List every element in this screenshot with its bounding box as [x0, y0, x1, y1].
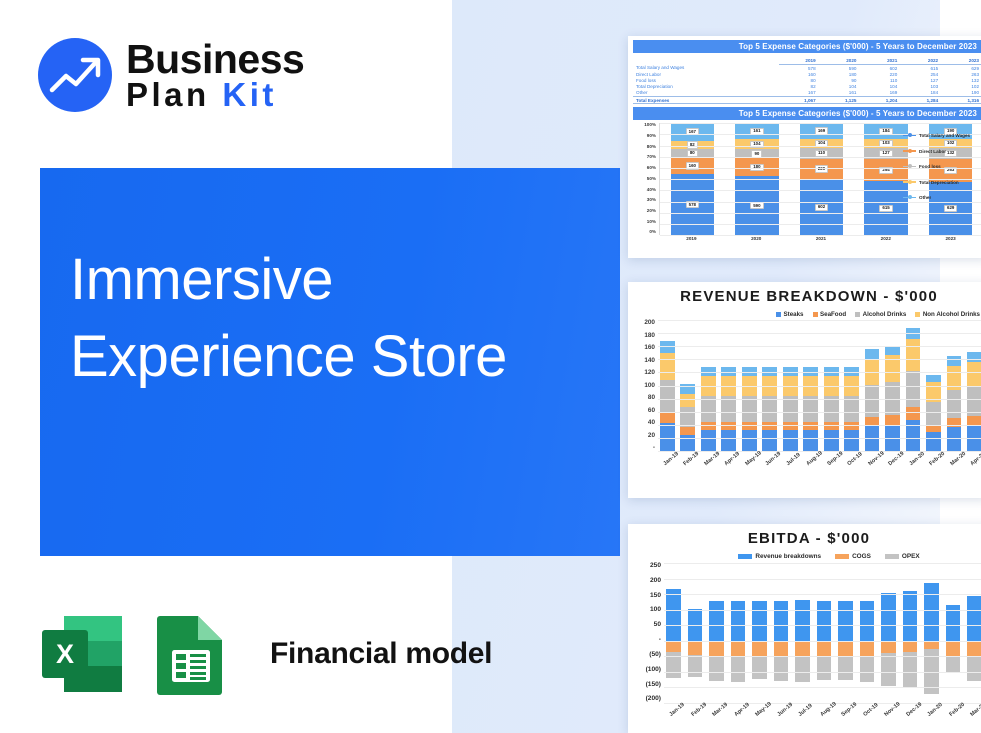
brand-word-plan: Plan — [126, 76, 210, 113]
revenue-chart-y-axis: 20018016014012010080604020- — [634, 320, 658, 452]
ebitda-chart-bars — [664, 563, 981, 703]
expense-cell: 578 — [779, 65, 820, 72]
legend-label: Food loss — [919, 164, 941, 169]
legend-item: Steaks — [776, 311, 803, 318]
bar-segment — [926, 432, 941, 451]
gridline — [660, 213, 981, 214]
financial-model-label: Financial model — [270, 637, 492, 671]
legend-label: Direct Labor — [919, 149, 946, 154]
bar-segment — [742, 396, 757, 422]
expense-chart-legend: Total Salary and WagesDirect LaborFood l… — [903, 133, 981, 200]
bar-segment: 103 — [864, 139, 908, 148]
x-tick: Feb-19 — [683, 453, 698, 467]
x-tick: May-19 — [744, 453, 759, 467]
bar-segment — [803, 396, 818, 422]
expense-chart-x-axis: 20192020202120222023 — [659, 236, 981, 241]
bar-value-label: 104 — [750, 141, 763, 148]
growth-arrow-icon — [38, 38, 112, 112]
ebitda-chart-title: EBITDA - $'000 — [634, 530, 981, 547]
diverging-bar — [860, 563, 875, 703]
bar-segment — [947, 390, 962, 418]
expense-cell: 167 — [779, 90, 820, 97]
expense-cell: 590 — [820, 65, 861, 72]
expense-cell: 161 — [820, 90, 861, 97]
bar-segment: 161 — [735, 123, 779, 139]
gridline — [658, 412, 981, 413]
legend-label: COGS — [852, 553, 871, 560]
expense-cell: 1,284 — [901, 96, 942, 103]
gridline — [658, 438, 981, 439]
bar-segment-revenue — [795, 600, 810, 640]
gridline — [658, 386, 981, 387]
x-tick: Jan-19 — [662, 453, 677, 467]
bar-segment-cogs — [946, 641, 961, 656]
x-tick: 2021 — [799, 236, 843, 241]
gridline — [658, 346, 981, 347]
table-row: Total Salary and Wages578590602615629 — [633, 65, 981, 72]
gridline — [660, 202, 981, 203]
bar-segment — [721, 396, 736, 422]
ebitda-card: EBITDA - $'000 Revenue breakdownsCOGSOPE… — [628, 524, 981, 733]
bar-segment-revenue — [731, 601, 746, 641]
expense-cell: 1,204 — [860, 96, 901, 103]
bar-segment — [844, 422, 859, 430]
bar-segment-cogs — [688, 641, 703, 655]
gridline — [664, 656, 981, 657]
stacked-bar — [865, 349, 880, 451]
ebitda-chart-legend: Revenue breakdownsCOGSOPEX — [634, 553, 981, 560]
bar-segment: 220 — [800, 159, 844, 179]
bar-value-label: 220 — [815, 165, 828, 172]
legend-swatch-icon — [835, 554, 849, 559]
x-tick: Jan-19 — [668, 704, 683, 718]
gridline — [664, 594, 981, 595]
y-tick: 200 — [644, 320, 655, 326]
legend-label: Alcohol Drinks — [863, 311, 907, 318]
file-format-row: X Financial model — [38, 610, 492, 698]
stacked-bar — [680, 384, 695, 451]
bar-segment-opex — [967, 656, 981, 680]
y-tick: 100 — [644, 383, 655, 389]
bar-segment — [680, 427, 695, 435]
bar-segment — [783, 422, 798, 430]
y-tick: 80% — [647, 145, 656, 150]
legend-item: Revenue breakdowns — [738, 553, 821, 560]
bar-segment — [844, 396, 859, 422]
y-tick: 60% — [647, 166, 656, 171]
y-tick: 10% — [647, 220, 656, 225]
expense-chart-y-axis: 100%90%80%70%60%50%40%30%20%10%0% — [633, 123, 659, 235]
expense-cell: 615 — [901, 65, 942, 72]
bar-segment — [742, 430, 757, 451]
stacked-bar — [947, 356, 962, 451]
legend-item: OPEX — [885, 553, 920, 560]
bar-segment-revenue — [924, 583, 939, 641]
bar-segment — [906, 339, 921, 370]
revenue-chart-legend: SteaksSeaFoodAlcohol DrinksNon Alcohol D… — [634, 311, 981, 318]
gridline — [664, 579, 981, 580]
revenue-chart-plot — [658, 320, 981, 452]
y-tick: 100 — [650, 607, 661, 614]
diverging-bar — [774, 563, 789, 703]
expense-chart-title: Top 5 Expense Categories ($'000) - 5 Yea… — [633, 107, 981, 120]
x-tick: Dec-19 — [888, 453, 903, 467]
diverging-bar — [924, 563, 939, 703]
legend-swatch-icon — [776, 312, 781, 317]
y-tick: 150 — [650, 593, 661, 600]
bar-segment — [844, 430, 859, 451]
bar-segment-cogs — [774, 641, 789, 657]
bar-segment-cogs — [817, 641, 832, 657]
gridline — [658, 359, 981, 360]
bar-segment — [824, 422, 839, 430]
legend-label: Other — [919, 195, 931, 200]
bar-segment — [803, 430, 818, 451]
x-tick: Mar-19 — [711, 704, 726, 718]
bar-segment-opex — [838, 656, 853, 680]
legend-item: Food loss — [903, 164, 981, 169]
gridline — [658, 333, 981, 334]
page-title: Immersive Experience Store — [70, 242, 590, 395]
bar-segment-cogs — [752, 641, 767, 657]
bar-segment-cogs — [881, 641, 896, 653]
bar-segment — [926, 375, 941, 382]
gridline — [658, 372, 981, 373]
y-tick: 200 — [650, 578, 661, 585]
x-tick: Sep-19 — [826, 453, 841, 467]
bar-segment — [824, 430, 839, 451]
x-tick: 2020 — [734, 236, 778, 241]
bar-segment — [783, 367, 798, 376]
legend-swatch-icon — [885, 554, 899, 559]
x-tick: Mar-20 — [970, 704, 981, 718]
bar-segment: 254 — [864, 159, 908, 181]
revenue-chart-title: REVENUE BREAKDOWN - $'000 — [634, 288, 981, 305]
expense-cell: 190 — [942, 90, 981, 97]
expense-categories-card: Top 5 Expense Categories ($'000) - 5 Yea… — [628, 36, 981, 258]
bar-value-label: 590 — [750, 202, 763, 209]
bar-segment — [783, 396, 798, 422]
diverging-bar — [752, 563, 767, 703]
expense-row-label: Total Salary and Wages — [633, 65, 779, 72]
stacked-bar — [660, 341, 675, 451]
legend-label: Revenue breakdowns — [755, 553, 821, 560]
gridline — [664, 563, 981, 564]
brand-wordmark: Business Plan Kit — [126, 40, 304, 110]
bar-segment-cogs — [666, 641, 681, 652]
expense-cell: 1,125 — [820, 96, 861, 103]
bar-value-label: 602 — [815, 204, 828, 211]
x-tick: 2022 — [864, 236, 908, 241]
legend-marker-icon — [903, 150, 916, 151]
gridline — [660, 123, 981, 124]
bar-segment-cogs — [709, 641, 724, 657]
diverging-bar — [903, 563, 918, 703]
y-tick: (150) — [646, 682, 661, 689]
bar-segment: 590 — [735, 176, 779, 235]
y-tick: 70% — [647, 155, 656, 160]
legend-swatch-icon — [855, 312, 860, 317]
x-tick: May-19 — [755, 704, 770, 718]
x-tick: Feb-20 — [929, 453, 944, 467]
legend-item: COGS — [835, 553, 871, 560]
expense-table: 20192020202120222023 Total Salary and Wa… — [633, 58, 981, 104]
bar-segment-opex — [903, 652, 918, 687]
diverging-bar — [709, 563, 724, 703]
x-tick: Apr-20 — [969, 453, 981, 467]
bar-segment-cogs — [903, 641, 918, 653]
x-tick: Feb-19 — [690, 704, 705, 718]
y-tick: 180 — [644, 333, 655, 339]
bar-segment — [967, 352, 981, 362]
bar-segment-revenue — [860, 601, 875, 641]
x-tick: 2023 — [929, 236, 973, 241]
bar-segment-revenue — [838, 601, 853, 641]
y-tick: 250 — [650, 563, 661, 570]
gridline — [658, 399, 981, 400]
bar-segment: 104 — [800, 139, 844, 149]
gridline — [658, 425, 981, 426]
svg-text:X: X — [56, 639, 74, 669]
bar-segment-cogs — [731, 641, 746, 657]
diverging-bar — [666, 563, 681, 703]
x-tick: Jun-19 — [776, 704, 791, 718]
bar-segment-revenue — [817, 601, 832, 641]
y-tick: 140 — [644, 358, 655, 364]
diverging-bar — [838, 563, 853, 703]
diverging-bar — [881, 563, 896, 703]
gridline — [658, 320, 981, 321]
bar-segment: 160 — [671, 158, 715, 175]
y-tick: 40% — [647, 188, 656, 193]
y-tick: 90% — [647, 134, 656, 139]
bar-segment-opex — [774, 656, 789, 681]
gridline — [664, 610, 981, 611]
bar-segment — [865, 349, 880, 359]
diverging-bar — [967, 563, 981, 703]
table-row: Total Expenses1,0671,1251,2041,2841,316 — [633, 96, 981, 103]
legend-marker-icon — [903, 197, 916, 198]
bar-segment-opex — [731, 656, 746, 682]
bar-segment-revenue — [752, 601, 767, 641]
y-tick: (100) — [646, 667, 661, 674]
y-tick: 0% — [649, 230, 656, 235]
excel-icon: X — [38, 610, 130, 698]
bar-segment — [906, 371, 921, 407]
legend-item: Other — [903, 195, 981, 200]
bar-segment-revenue — [774, 601, 789, 641]
bar-segment: 169 — [800, 123, 844, 139]
gridline — [664, 687, 981, 688]
x-tick: Jun-19 — [765, 453, 780, 467]
diverging-bar — [688, 563, 703, 703]
x-tick: Jan-20 — [927, 704, 942, 718]
bar-segment-revenue — [666, 589, 681, 641]
bar-segment — [680, 407, 695, 427]
revenue-breakdown-card: REVENUE BREAKDOWN - $'000 SteaksSeaFoodA… — [628, 282, 981, 498]
bar-segment — [660, 413, 675, 423]
bar-segment: 578 — [671, 174, 715, 235]
hero-banner: Immersive Experience Store — [40, 168, 620, 556]
bar-segment-cogs — [795, 641, 810, 657]
y-tick: 40 — [648, 420, 655, 426]
brand-logo: Business Plan Kit — [38, 30, 308, 120]
x-tick: Oct-19 — [862, 704, 877, 718]
bar-segment-cogs — [838, 641, 853, 657]
bar-segment — [701, 396, 716, 422]
legend-label: Steaks — [784, 311, 804, 318]
legend-item: Alcohol Drinks — [855, 311, 906, 318]
bar-segment-cogs — [967, 641, 981, 657]
bar-segment — [660, 353, 675, 380]
y-tick: 20% — [647, 209, 656, 214]
bar-value-label: 615 — [879, 205, 892, 212]
legend-label: Non Alcohol Drinks — [923, 311, 980, 318]
x-tick: Apr-19 — [733, 704, 748, 718]
x-tick: Jan-20 — [908, 453, 923, 467]
x-tick: Mar-20 — [949, 453, 964, 467]
bar-segment-opex — [860, 656, 875, 682]
y-tick: 120 — [644, 370, 655, 376]
x-tick: Aug-19 — [806, 453, 821, 467]
legend-label: SeaFood — [820, 311, 846, 318]
bar-segment-revenue — [881, 593, 896, 641]
bar-segment-revenue — [967, 596, 981, 641]
legend-swatch-icon — [915, 312, 920, 317]
google-sheets-icon — [152, 610, 244, 698]
legend-item: SeaFood — [813, 311, 847, 318]
expense-cell: 1,316 — [942, 96, 981, 103]
bar-segment — [742, 422, 757, 430]
bar-segment-cogs — [924, 641, 939, 649]
gridline — [664, 672, 981, 673]
table-row: Other167161169184190 — [633, 90, 981, 97]
y-tick: 50% — [647, 177, 656, 182]
y-tick: 30% — [647, 198, 656, 203]
gridline — [664, 641, 981, 642]
legend-marker-icon — [903, 181, 916, 182]
bar-segment — [947, 356, 962, 366]
expense-cell: 1,067 — [779, 96, 820, 103]
brand-word-kit: Kit — [222, 76, 277, 113]
bar-segment-opex — [709, 656, 724, 680]
bar-segment: 184 — [864, 123, 908, 139]
bar-segment — [885, 415, 900, 424]
y-tick: 60 — [648, 408, 655, 414]
y-tick: 20 — [648, 433, 655, 439]
bar-segment-opex — [688, 655, 703, 677]
bar-segment-opex — [817, 656, 832, 680]
bar-segment: 104 — [735, 139, 779, 149]
y-tick: 160 — [644, 345, 655, 351]
bar-segment: 167 — [671, 123, 715, 141]
x-tick: Apr-19 — [724, 453, 739, 467]
bar-segment-revenue — [709, 601, 724, 641]
y-tick: (50) — [649, 652, 661, 659]
bar-segment — [947, 427, 962, 451]
y-tick: - — [659, 637, 661, 644]
gridline — [664, 625, 981, 626]
legend-marker-icon — [903, 135, 916, 136]
bar-segment-opex — [881, 653, 896, 685]
expense-table-title: Top 5 Expense Categories ($'000) - 5 Yea… — [633, 40, 981, 53]
bar-segment — [947, 418, 962, 427]
bar-segment — [906, 407, 921, 420]
legend-label: Total Salary and Wages — [919, 133, 970, 138]
bar-segment: 602 — [800, 179, 844, 235]
revenue-chart-x-axis: Jan-19Feb-19Mar-19Apr-19May-19Jun-19Jul-… — [658, 453, 981, 459]
x-tick: Nov-19 — [867, 453, 882, 467]
x-tick: Oct-19 — [847, 453, 862, 467]
bar-segment — [701, 430, 716, 451]
bar-segment-cogs — [860, 641, 875, 657]
y-tick: - — [653, 445, 655, 451]
x-tick: Dec-19 — [905, 704, 920, 718]
x-tick: Aug-19 — [819, 704, 834, 718]
bar-segment-opex — [752, 656, 767, 679]
bar-segment — [803, 422, 818, 430]
expense-cell: 629 — [942, 65, 981, 72]
bar-segment — [824, 396, 839, 422]
diverging-bar — [795, 563, 810, 703]
stacked-bar — [926, 375, 941, 451]
diverging-bar — [817, 563, 832, 703]
bar-segment — [762, 396, 777, 422]
y-tick: 50 — [654, 622, 661, 629]
expense-row-label: Total Expenses — [633, 96, 779, 103]
gridline — [660, 224, 981, 225]
expense-table-body: Total Salary and Wages578590602615629Dir… — [633, 65, 981, 104]
x-tick: Mar-19 — [703, 453, 718, 467]
bar-segment — [721, 430, 736, 451]
diverging-bar — [731, 563, 746, 703]
x-tick: Feb-20 — [948, 704, 963, 718]
ebitda-chart-y-axis: 25020015010050-(50)(100)(150)(200) — [634, 563, 664, 703]
legend-item: Non Alcohol Drinks — [915, 311, 980, 318]
legend-item: Total Salary and Wages — [903, 133, 981, 138]
bar-segment — [721, 422, 736, 430]
y-tick: 100% — [644, 123, 656, 128]
bar-segment — [783, 430, 798, 451]
expense-stacked-chart: 100%90%80%70%60%50%40%30%20%10%0% 167828… — [633, 123, 981, 251]
brand-line-plan-kit: Plan Kit — [126, 79, 304, 110]
legend-item: Direct Labor — [903, 149, 981, 154]
legend-swatch-icon — [813, 312, 818, 317]
bar-segment — [680, 394, 695, 407]
bar-segment — [701, 422, 716, 430]
expense-row-label: Other — [633, 90, 779, 97]
bar-segment — [885, 346, 900, 355]
stacked-bar — [967, 352, 981, 451]
bar-segment — [967, 362, 981, 386]
ebitda-chart-x-axis: Jan-19Feb-19Mar-19Apr-19May-19Jun-19Jul-… — [664, 704, 981, 710]
expense-cell: 184 — [901, 90, 942, 97]
expense-cell: 602 — [860, 65, 901, 72]
x-tick: Jul-19 — [798, 704, 813, 718]
bar-segment-opex — [946, 656, 961, 673]
diverging-bar — [946, 563, 961, 703]
legend-item: Total Depreciation — [903, 180, 981, 185]
ebitda-chart-plot — [664, 563, 981, 703]
y-tick: 80 — [648, 395, 655, 401]
bar-segment — [762, 422, 777, 430]
x-tick: Sep-19 — [841, 704, 856, 718]
brand-line-business: Business — [126, 40, 304, 79]
x-tick: 2019 — [670, 236, 714, 241]
bar-segment-revenue — [903, 591, 918, 640]
legend-label: Total Depreciation — [919, 180, 959, 185]
legend-marker-icon — [903, 166, 916, 167]
